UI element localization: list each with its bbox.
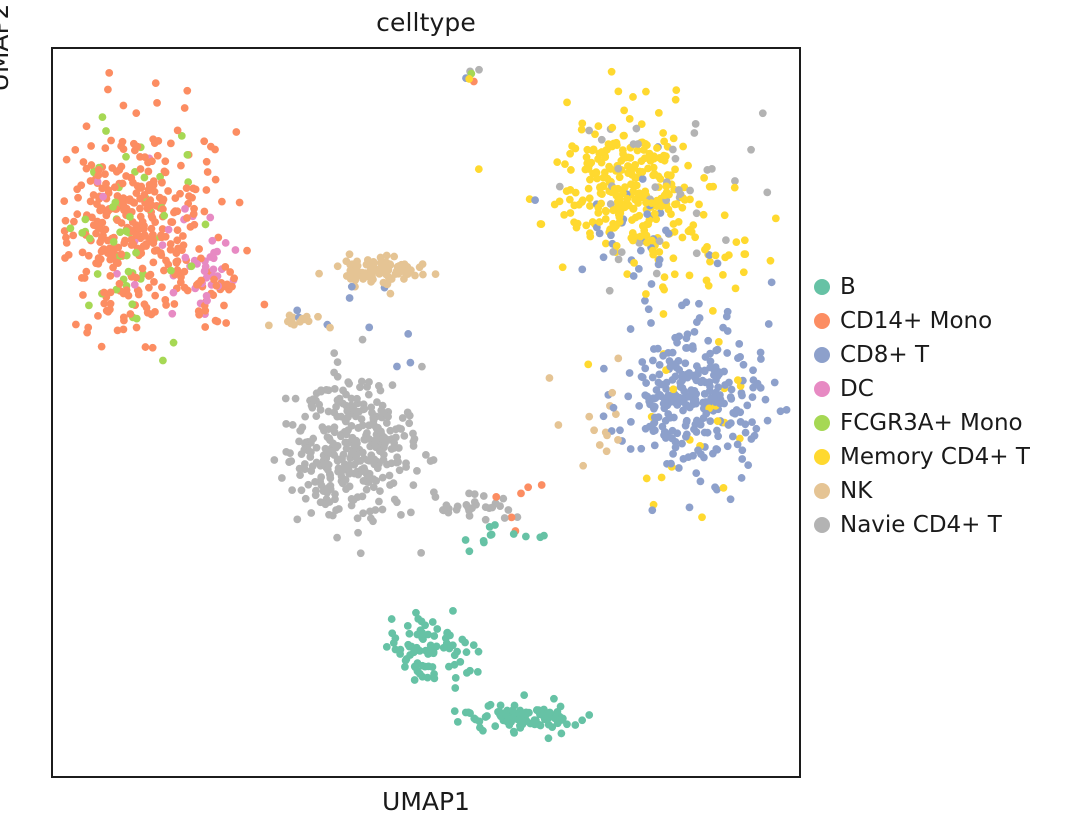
legend-color-swatch-icon	[814, 313, 830, 329]
legend-item[interactable]: Memory CD4+ T	[814, 440, 1064, 474]
legend-item-label: DC	[840, 376, 874, 402]
legend-item[interactable]: CD8+ T	[814, 338, 1064, 372]
legend-item[interactable]: CD14+ Mono	[814, 304, 1064, 338]
legend-item[interactable]: DC	[814, 372, 1064, 406]
legend-item[interactable]: NK	[814, 474, 1064, 508]
legend-item-label: Navie CD4+ T	[840, 512, 1002, 538]
legend-color-swatch-icon	[814, 381, 830, 397]
legend-item[interactable]: FCGR3A+ Mono	[814, 406, 1064, 440]
legend-item[interactable]: B	[814, 270, 1064, 304]
y-axis-label-container: UMAP2	[0, 0, 18, 413]
legend-item-label: CD14+ Mono	[840, 308, 992, 334]
legend-item[interactable]: Navie CD4+ T	[814, 508, 1064, 542]
page-title: celltype	[51, 8, 801, 38]
legend-color-swatch-icon	[814, 347, 830, 363]
umap-figure: celltype UMAP1 UMAP2 BCD14+ MonoCD8+ TDC…	[0, 0, 1072, 829]
legend-item-label: NK	[840, 478, 872, 504]
plot-axes-frame	[51, 47, 801, 778]
legend-item-label: B	[840, 274, 856, 300]
legend-color-swatch-icon	[814, 449, 830, 465]
legend-color-swatch-icon	[814, 483, 830, 499]
legend-item-label: CD8+ T	[840, 342, 929, 368]
y-axis-label: UMAP2	[0, 4, 16, 92]
legend-color-swatch-icon	[814, 415, 830, 431]
legend-color-swatch-icon	[814, 517, 830, 533]
legend-color-swatch-icon	[814, 279, 830, 295]
legend-item-label: FCGR3A+ Mono	[840, 410, 1023, 436]
legend-item-label: Memory CD4+ T	[840, 444, 1030, 470]
legend: BCD14+ MonoCD8+ TDCFCGR3A+ MonoMemory CD…	[814, 270, 1064, 542]
x-axis-label: UMAP1	[51, 786, 801, 818]
scatter-plot-canvas	[53, 49, 799, 776]
